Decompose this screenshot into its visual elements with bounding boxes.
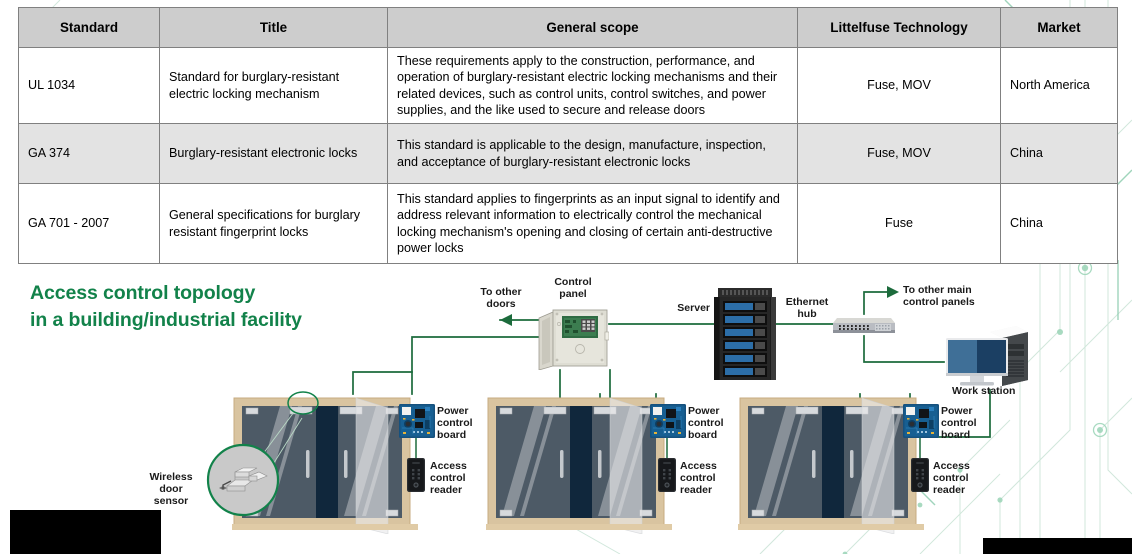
- cell-general-scope: These requirements apply to the construc…: [388, 48, 798, 124]
- access-control-reader-device: [658, 458, 676, 492]
- cell-standard: GA 701 - 2007: [19, 184, 160, 264]
- label-access-control-reader: Access control reader: [430, 460, 486, 496]
- access-control-topology-diagram: Access control topology in a building/in…: [0, 262, 1132, 554]
- cell-market: North America: [1001, 48, 1118, 124]
- cell-technology: Fuse, MOV: [798, 124, 1001, 184]
- arrow-to-other-main-control-panels: [887, 286, 899, 298]
- arrow-to-other-doors: [500, 314, 512, 326]
- column-header-littelfuse-technology: Littelfuse Technology: [798, 8, 1001, 48]
- power-control-board-device: [399, 404, 435, 438]
- cell-general-scope: This standard is applicable to the desig…: [388, 124, 798, 184]
- label-server: Server: [674, 302, 710, 314]
- control-panel-device: [537, 304, 609, 370]
- table-row: GA 374 Burglary-resistant electronic loc…: [19, 124, 1118, 184]
- cell-title: Standard for burglary-resistant electric…: [160, 48, 388, 124]
- cell-technology: Fuse: [798, 184, 1001, 264]
- server-rack-device: [714, 288, 776, 380]
- label-control-panel: Control panel: [540, 276, 606, 300]
- cell-title: Burglary-resistant electronic locks: [160, 124, 388, 184]
- access-control-reader-device: [407, 458, 425, 492]
- glass-door-assembly: [482, 394, 678, 534]
- slide-canvas: Standard Title General scope Littelfuse …: [0, 0, 1132, 554]
- cell-standard: GA 374: [19, 124, 160, 184]
- label-to-other-doors: To other doors: [466, 286, 536, 310]
- cell-general-scope: This standard applies to fingerprints as…: [388, 184, 798, 264]
- redaction-bar-right: [983, 538, 1132, 554]
- label-to-other-main-control-panels: To other main control panels: [903, 284, 999, 308]
- power-control-board-device: [650, 404, 686, 438]
- label-access-control-reader: Access control reader: [933, 460, 989, 496]
- label-wireless-door-sensor: Wireless door sensor: [140, 471, 202, 507]
- standards-table: Standard Title General scope Littelfuse …: [18, 7, 1118, 264]
- ethernet-hub-device: [833, 314, 895, 336]
- column-header-title: Title: [160, 8, 388, 48]
- label-access-control-reader: Access control reader: [680, 460, 736, 496]
- label-power-control-board: Power control board: [437, 405, 493, 441]
- column-header-standard: Standard: [19, 8, 160, 48]
- column-header-general-scope: General scope: [388, 8, 798, 48]
- sensor-location-marker: [286, 390, 320, 416]
- table-row: GA 701 - 2007 General specifications for…: [19, 184, 1118, 264]
- cell-market: China: [1001, 184, 1118, 264]
- cell-market: China: [1001, 124, 1118, 184]
- wireless-door-sensor-callout: [205, 442, 281, 518]
- label-power-control-board: Power control board: [688, 405, 744, 441]
- table-row: UL 1034 Standard for burglary-resistant …: [19, 48, 1118, 124]
- diagram-title: Access control topology in a building/in…: [30, 280, 302, 334]
- cell-title: General specifications for burglary resi…: [160, 184, 388, 264]
- power-control-board-device: [903, 404, 939, 438]
- label-power-control-board: Power control board: [941, 405, 997, 441]
- label-ethernet-hub: Ethernet hub: [782, 296, 832, 320]
- cell-standard: UL 1034: [19, 48, 160, 124]
- cell-technology: Fuse, MOV: [798, 48, 1001, 124]
- workstation-device: [944, 322, 1036, 390]
- glass-door-assembly: [734, 394, 930, 534]
- table-header-row: Standard Title General scope Littelfuse …: [19, 8, 1118, 48]
- redaction-bar-left: [10, 510, 161, 554]
- access-control-reader-device: [911, 458, 929, 492]
- column-header-market: Market: [1001, 8, 1118, 48]
- label-work-station: Work station: [952, 385, 1036, 397]
